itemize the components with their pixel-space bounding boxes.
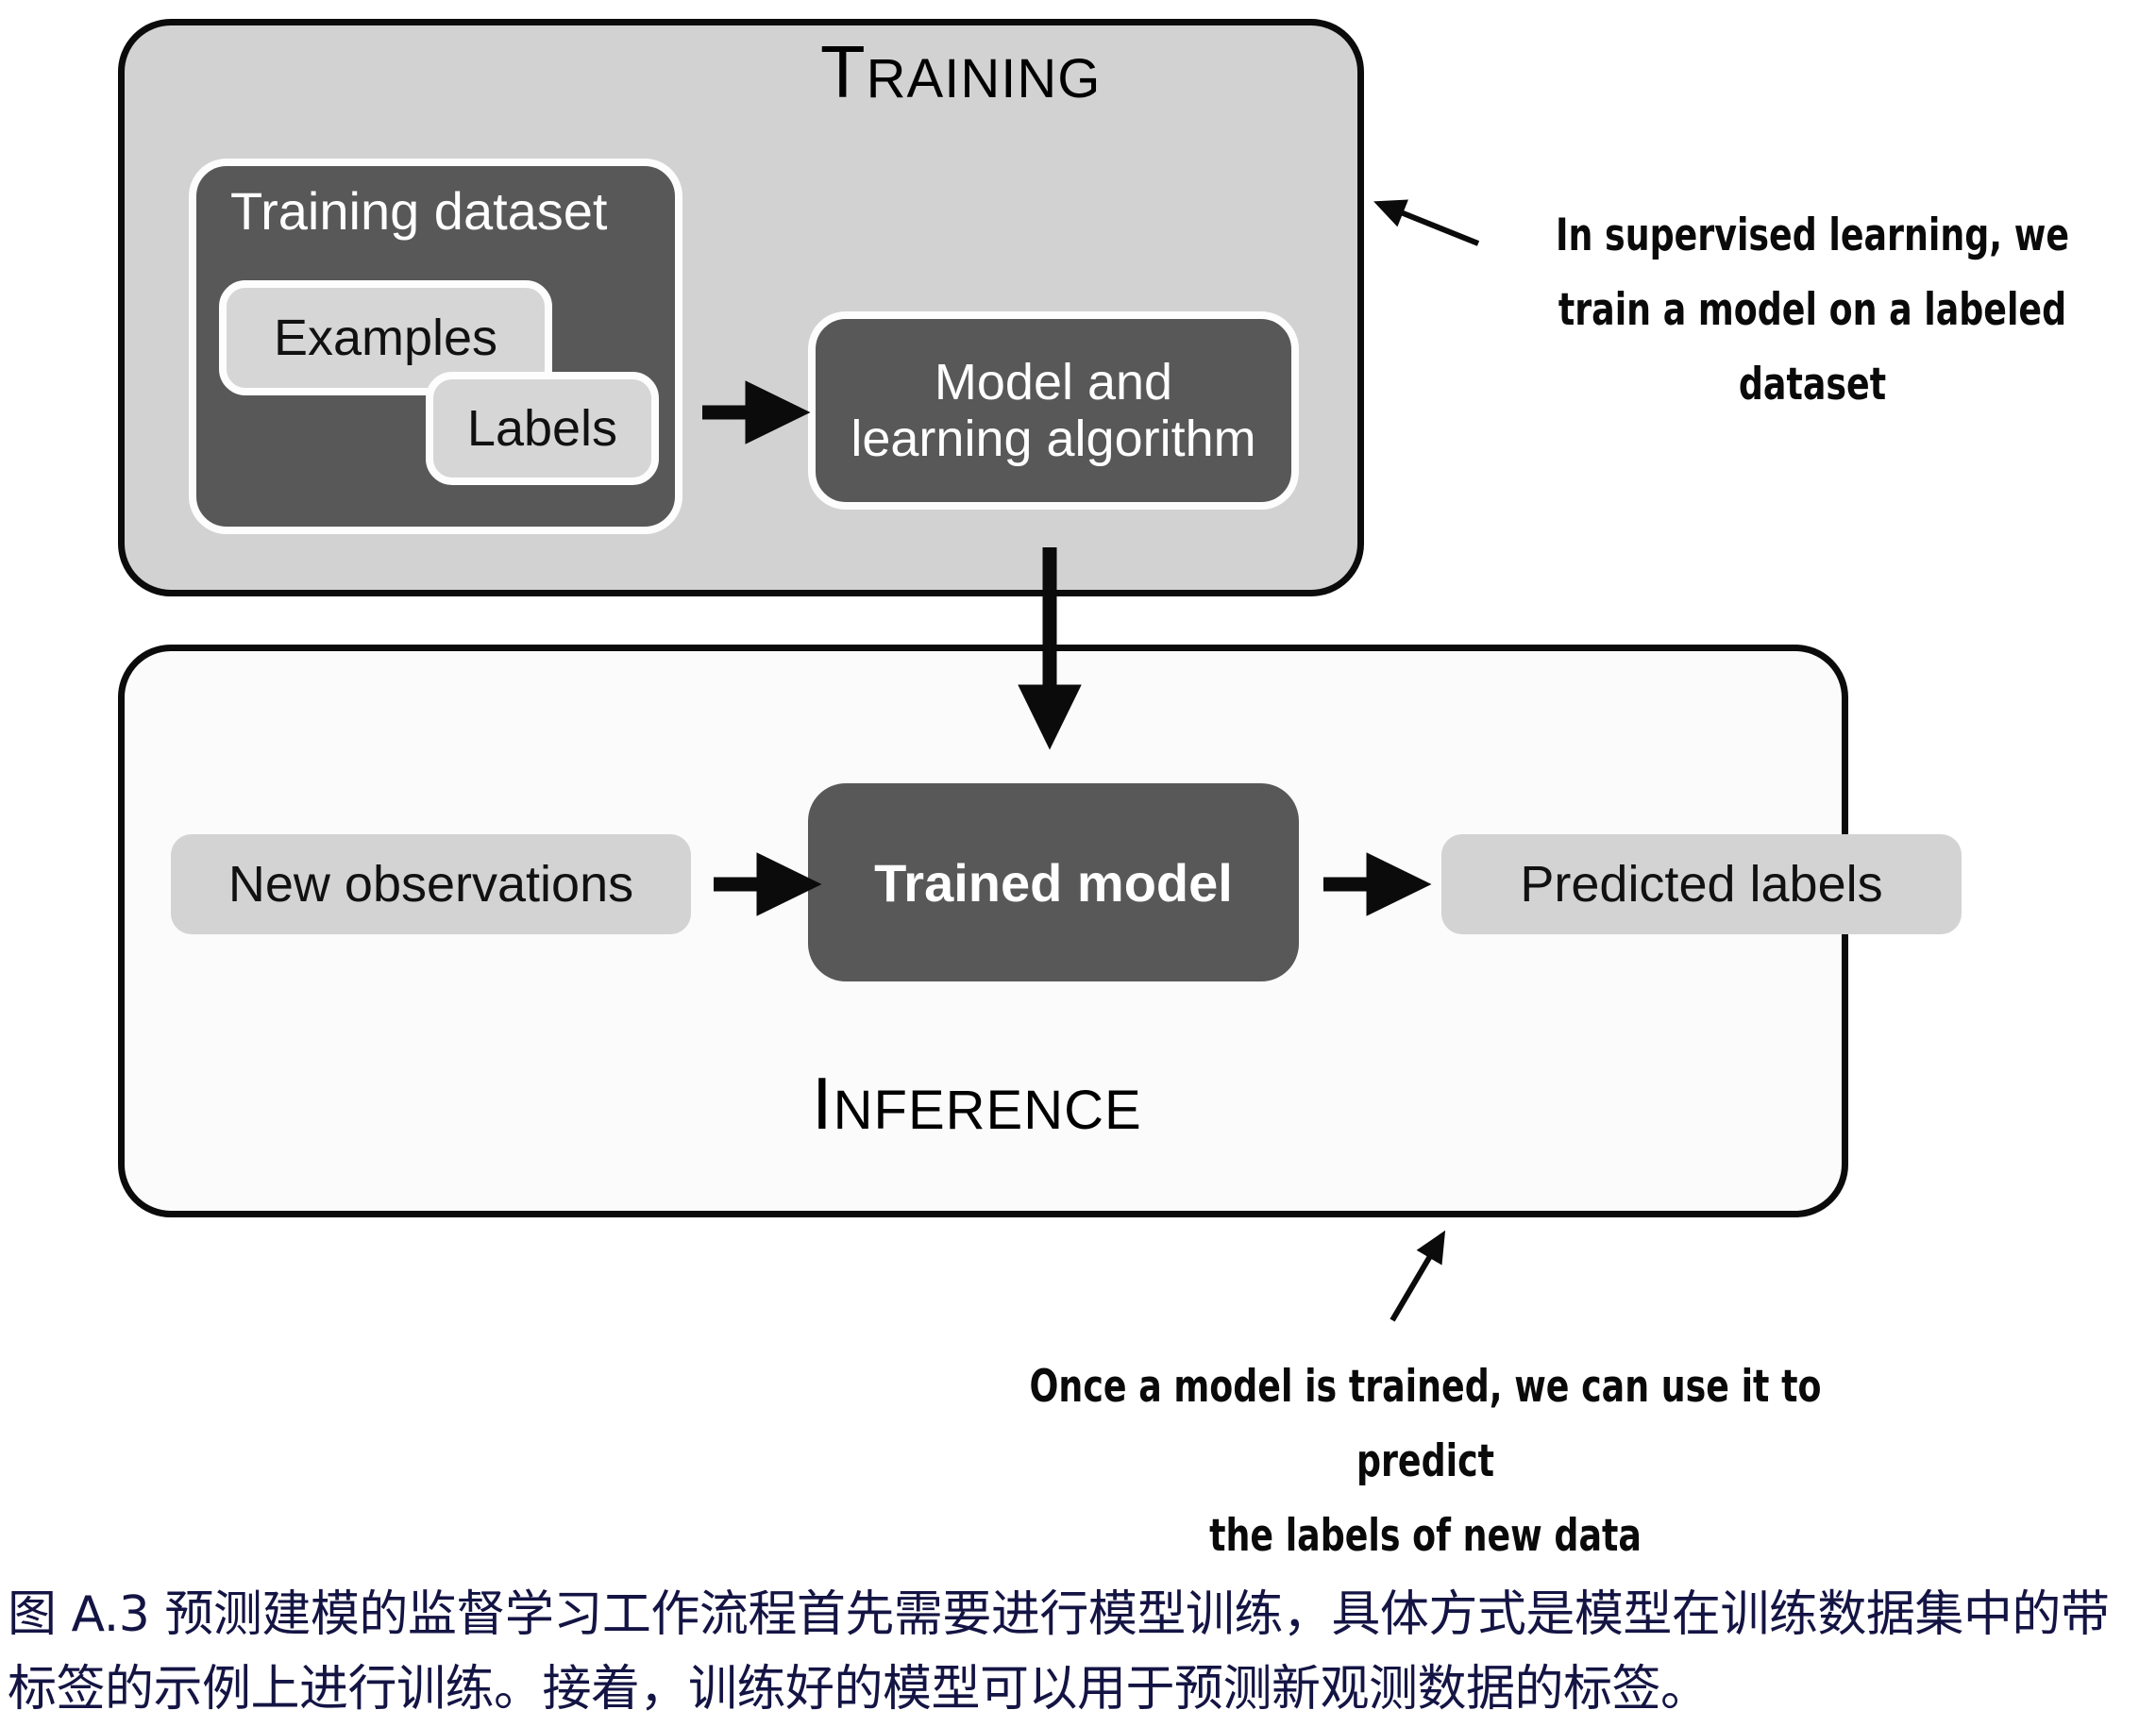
model-box-label: Model and learning algorithm xyxy=(851,354,1255,467)
predicted-labels-label: Predicted labels xyxy=(1520,855,1882,914)
training-annotation-line2: train a model on a labeled xyxy=(1553,273,2072,347)
labels-label: Labels xyxy=(467,402,617,455)
training-title-rest: RAINING xyxy=(867,48,1102,109)
inference-title-rest: NFERENCE xyxy=(834,1080,1142,1141)
inference-annotation: Once a model is trained, we can use it t… xyxy=(954,1350,1896,1573)
arrow-training-callout-pointer xyxy=(1396,210,1478,243)
model-and-learning-algorithm-box: Model and learning algorithm xyxy=(808,311,1299,510)
trained-model-label: Trained model xyxy=(874,852,1233,914)
figure-caption: 图 A.3 预测建模的监督学习工作流程首先需要进行模型训练，具体方式是模型在训练… xyxy=(8,1578,2150,1727)
inference-panel-title: INFERENCE xyxy=(812,1066,1142,1148)
training-annotation: In supervised learning, we train a model… xyxy=(1553,198,2072,422)
inference-panel: New observations Trained model Predicted… xyxy=(118,645,1848,1217)
training-panel: TRAINING Training dataset Examples Label… xyxy=(118,19,1364,596)
training-annotation-line1: In supervised learning, we xyxy=(1553,198,2072,273)
figure-caption-line2: 标签的示例上进行训练。接着，训练好的模型可以用于预测新观测数据的标签。 xyxy=(8,1652,2150,1727)
inference-annotation-line2: the labels of new data xyxy=(954,1499,1896,1573)
training-panel-title: TRAINING xyxy=(820,35,1101,116)
training-annotation-line3: dataset xyxy=(1553,347,2072,422)
training-dataset-label: Training dataset xyxy=(230,183,608,240)
trained-model-box: Trained model xyxy=(808,783,1299,981)
inference-annotation-line1: Once a model is trained, we can use it t… xyxy=(954,1350,1896,1499)
new-observations-chip: New observations xyxy=(171,834,691,934)
labels-chip: Labels xyxy=(426,372,659,485)
examples-label: Examples xyxy=(274,311,497,364)
predicted-labels-chip: Predicted labels xyxy=(1441,834,1962,934)
new-observations-label: New observations xyxy=(228,855,633,914)
figure-caption-line1: 图 A.3 预测建模的监督学习工作流程首先需要进行模型训练，具体方式是模型在训练… xyxy=(8,1578,2150,1652)
inference-title-initial: I xyxy=(812,1062,834,1145)
model-box-label-line1: Model and xyxy=(935,354,1172,411)
model-box-label-line2: learning algorithm xyxy=(851,411,1255,467)
training-title-initial: T xyxy=(820,30,867,113)
arrow-inference-callout-pointer xyxy=(1392,1251,1433,1320)
figure-canvas: TRAINING Training dataset Examples Label… xyxy=(0,0,2156,1725)
